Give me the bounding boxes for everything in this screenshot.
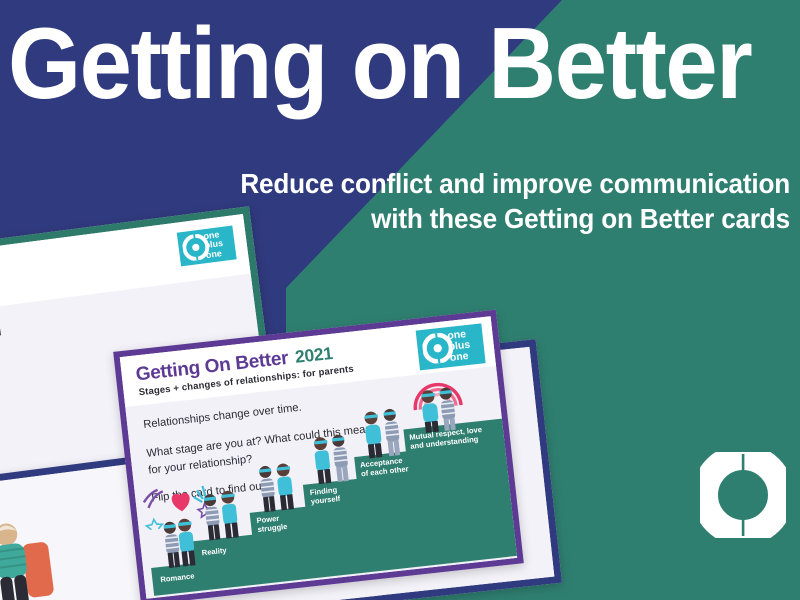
one-plus-one-logo: one plus one: [177, 226, 237, 267]
one-plus-one-logo-text: one plus one: [203, 230, 225, 260]
stage-label-finding-yourself: Finding yourself: [309, 485, 340, 507]
couple-illustration-reality: [195, 485, 254, 543]
poster-canvas: Getting on Better Reduce conflict and im…: [0, 0, 800, 600]
page-title: Getting on Better: [8, 14, 743, 115]
stage-label-power-struggle: Power struggle: [256, 513, 288, 535]
card-front-inner: Getting On Better2021 Stages + changes o…: [120, 316, 517, 598]
card-front[interactable]: Getting On Better2021 Stages + changes o…: [113, 310, 524, 600]
seated-person-illustration: [0, 500, 101, 600]
couple-illustration-mutual-respect: [404, 374, 472, 434]
card-back-logo: one plus one: [177, 226, 237, 267]
one-plus-one-logo: one plus one: [416, 323, 486, 370]
card-front-logo: one plus one: [416, 323, 486, 370]
couple-illustration-finding-yourself: [303, 429, 362, 487]
logo-line-3: one: [449, 350, 472, 363]
one-plus-one-logo-text: one plus one: [447, 329, 472, 364]
page-subtitle-line-1: Reduce conflict and improve communicatio…: [125, 166, 790, 201]
couple-illustration-power-struggle: [250, 457, 309, 515]
logo-line-3: one: [205, 249, 225, 261]
brand-mark-icon: [700, 452, 786, 538]
card-front-year: 2021: [294, 343, 334, 367]
